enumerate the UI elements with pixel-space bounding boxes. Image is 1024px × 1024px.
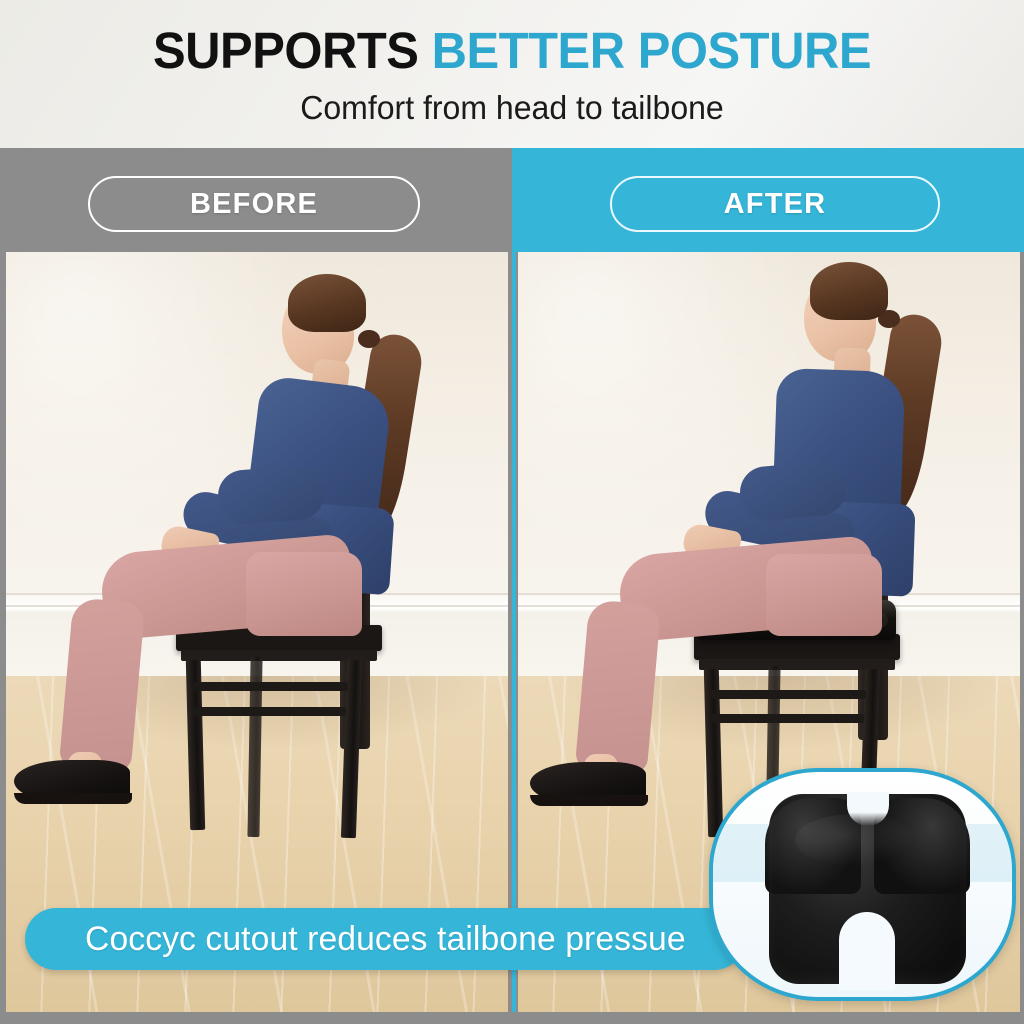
headline-accent: BETTER POSTURE [432, 22, 871, 79]
page-subtitle: Comfort from head to tailbone [15, 88, 1008, 128]
frame-divider-accent [512, 252, 516, 1012]
page-title: SUPPORTS BETTER POSTURE [20, 23, 1003, 79]
after-badge: AFTER [610, 176, 940, 232]
after-badge-label: AFTER [724, 188, 827, 221]
before-photo [6, 252, 508, 1012]
before-badge-label: BEFORE [190, 188, 318, 221]
header-banner: SUPPORTS BETTER POSTURE Comfort from hea… [0, 0, 1024, 148]
headline-primary: SUPPORTS [153, 22, 432, 79]
product-infographic: SUPPORTS BETTER POSTURE Comfort from hea… [0, 0, 1024, 1024]
frame-bottom [0, 1012, 1024, 1024]
feature-banner-label: Coccyc cutout reduces tailbone pressue [85, 920, 686, 959]
before-badge: BEFORE [88, 176, 420, 232]
coccyx-cushion-icon [769, 794, 966, 984]
product-inset [709, 768, 1016, 1001]
feature-banner: Coccyc cutout reduces tailbone pressue [25, 908, 745, 970]
frame-right [1020, 252, 1024, 1024]
